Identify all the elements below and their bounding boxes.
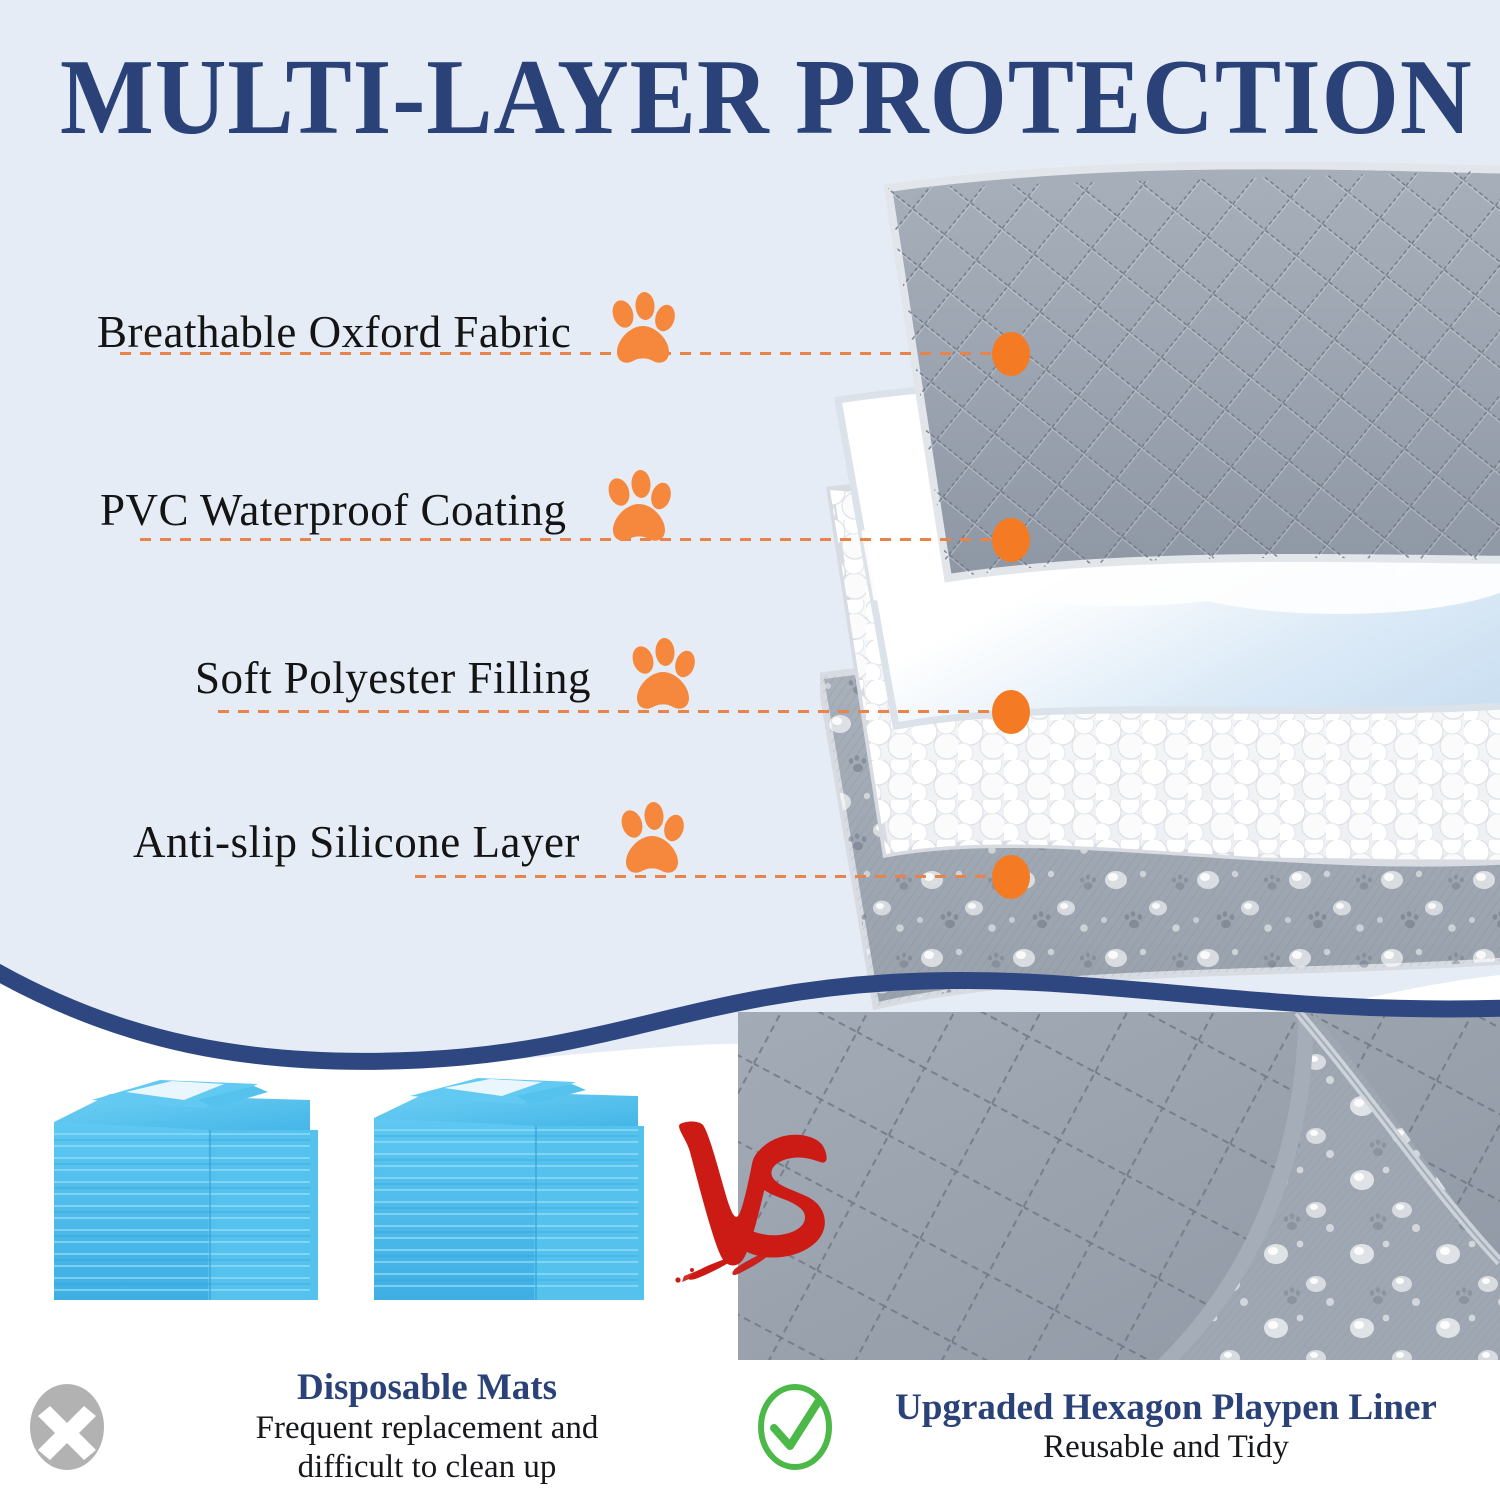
feature-row-3: Soft Polyester Filling	[195, 638, 701, 718]
pad-stack	[374, 1078, 644, 1300]
connector-dot	[992, 855, 1030, 899]
connector-dot	[992, 690, 1030, 734]
feature-label: Soft Polyester Filling	[195, 652, 591, 704]
paw-print-icon	[621, 638, 701, 718]
vs-graphic	[672, 1118, 842, 1283]
feature-label: Breathable Oxford Fabric	[97, 306, 571, 358]
page-title: MULTI-LAYER PROTECTION	[60, 44, 1440, 152]
comparison-description-line-2: difficult to clean up	[120, 1448, 734, 1487]
feature-label: PVC Waterproof Coating	[100, 484, 567, 536]
connector-dot	[992, 332, 1030, 376]
comparison-heading: Upgraded Hexagon Playpen Liner	[848, 1387, 1484, 1428]
feature-row-1: Breathable Oxford Fabric	[97, 292, 681, 372]
pad-stack	[54, 1080, 318, 1300]
exploded-layer-illustration	[820, 160, 1500, 1040]
stacked-disposable-pads	[48, 1078, 678, 1318]
comparison-description-line-1: Reusable and Tidy	[848, 1428, 1484, 1467]
comparison-description: Frequent replacement and difficult to cl…	[120, 1409, 734, 1487]
check-mark-icon	[756, 1382, 834, 1472]
wave-divider	[0, 950, 1500, 1080]
comparison-right: Upgraded Hexagon Playpen Liner Reusable …	[756, 1372, 1484, 1482]
paw-print-icon	[601, 292, 681, 372]
comparison-description: Reusable and Tidy	[848, 1428, 1484, 1467]
feature-row-2: PVC Waterproof Coating	[100, 470, 677, 550]
comparison-left: Disposable Mats Frequent replacement and…	[28, 1372, 734, 1482]
comparison-description-line-1: Frequent replacement and	[120, 1409, 734, 1448]
layer-oxford-quilted	[888, 165, 1500, 578]
feature-label: Anti-slip Silicone Layer	[133, 816, 580, 868]
feature-row-4: Anti-slip Silicone Layer	[133, 802, 690, 882]
paw-print-icon	[610, 802, 690, 882]
x-mark-icon	[28, 1382, 106, 1472]
connector-dot	[992, 518, 1030, 562]
paw-print-icon	[597, 470, 677, 550]
comparison-heading: Disposable Mats	[120, 1367, 734, 1408]
